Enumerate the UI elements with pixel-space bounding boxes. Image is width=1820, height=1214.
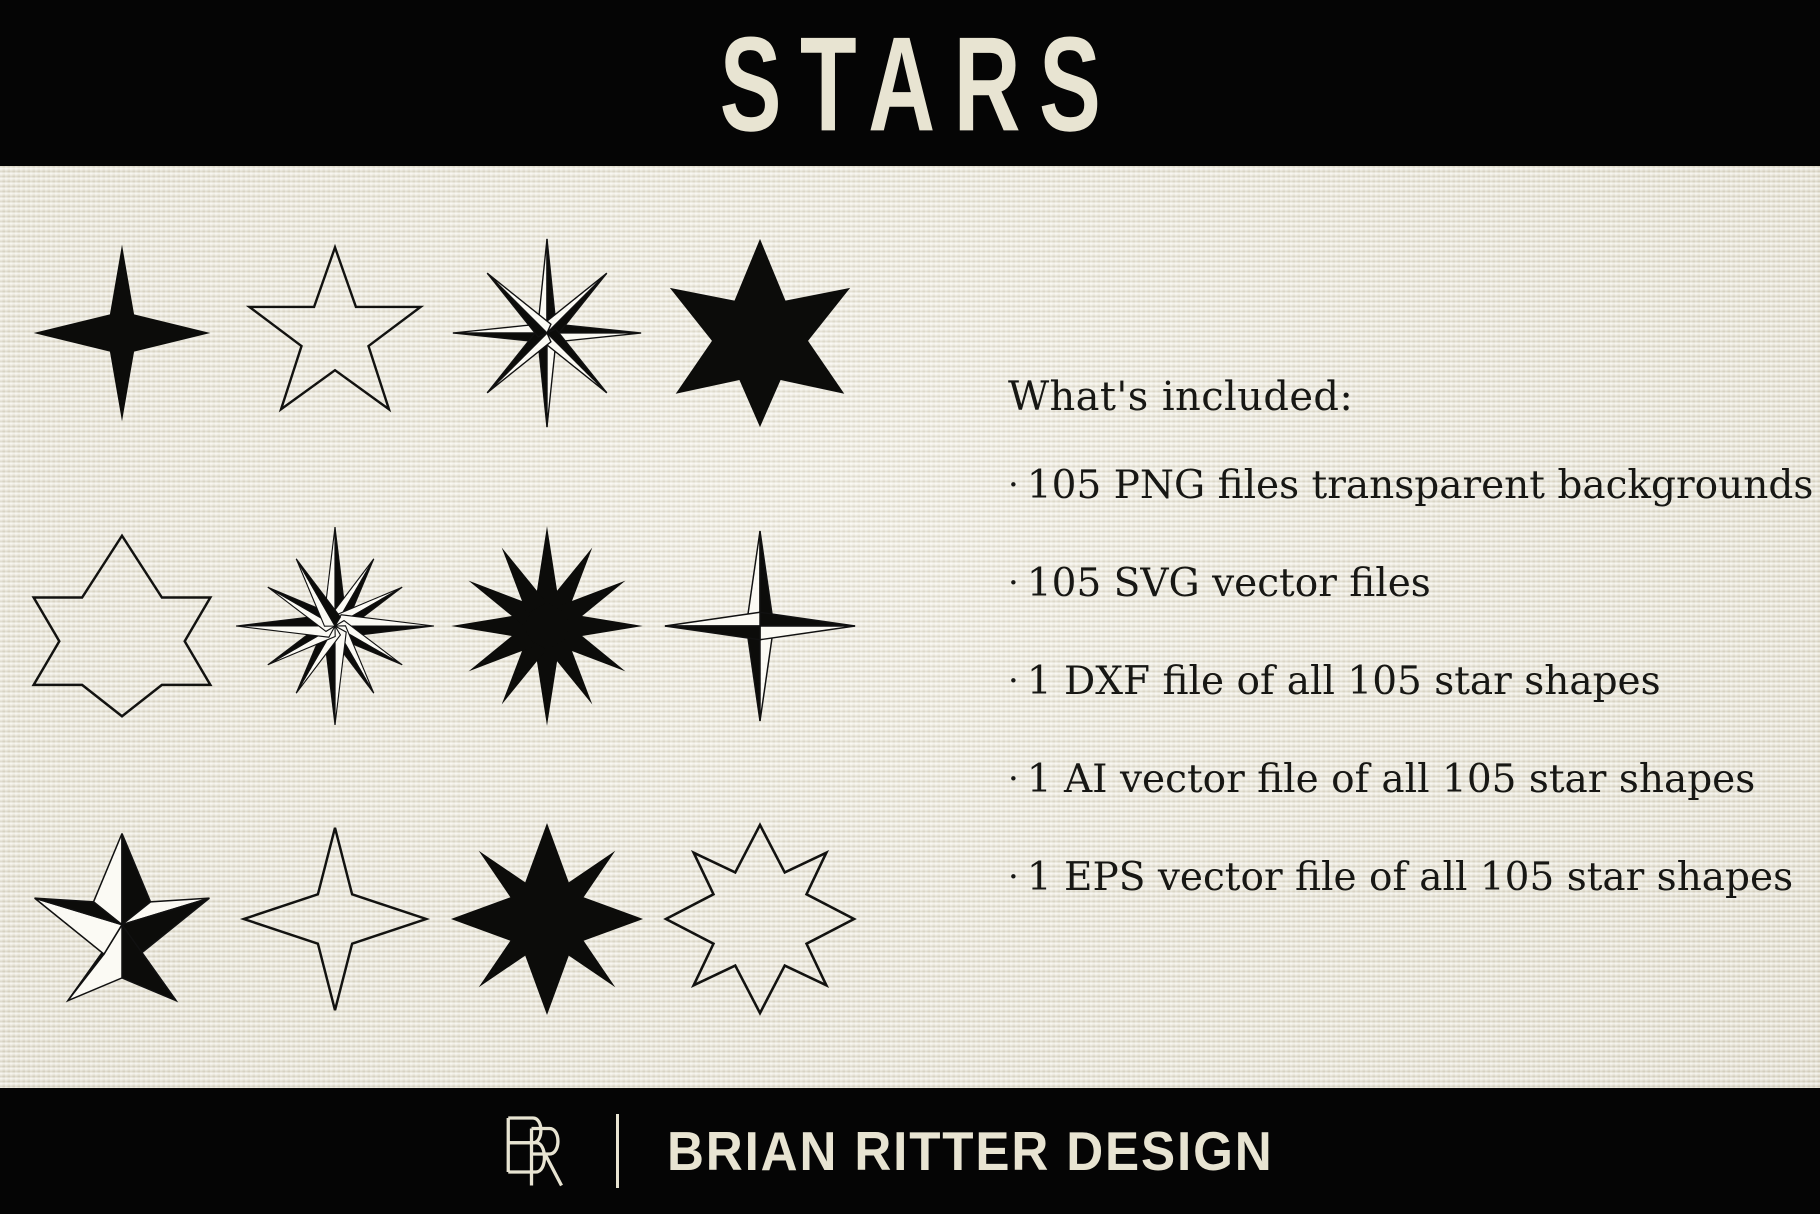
header-band: STARS	[0, 0, 1820, 166]
list-item: · 105 PNG files transparent backgrounds	[1008, 466, 1798, 507]
star-cell-4	[654, 186, 867, 479]
included-heading: What's included:	[1008, 374, 1798, 420]
star-cell-12	[654, 773, 867, 1066]
br-monogram-logo-icon	[498, 1112, 574, 1190]
star-cell-2	[229, 186, 442, 479]
twelve-point-rose-shaded-icon	[233, 524, 437, 728]
eight-point-outline-icon	[661, 820, 859, 1018]
list-item: · 1 EPS vector file of all 105 star shap…	[1008, 858, 1798, 899]
five-point-nautical-shaded-icon	[24, 824, 220, 1014]
list-item: · 1 AI vector file of all 105 star shape…	[1008, 760, 1798, 801]
four-point-sparkle-solid-icon	[29, 240, 215, 426]
bullet-icon: ·	[1008, 566, 1019, 600]
star-cell-3	[441, 186, 654, 479]
star-showcase-grid	[16, 186, 866, 1066]
six-point-solid-icon	[662, 235, 858, 431]
list-item-label: 1 AI vector file of all 105 star shapes	[1027, 760, 1755, 801]
included-list: · 105 PNG files transparent backgrounds …	[1008, 466, 1798, 899]
eight-point-compass-rose-icon	[449, 235, 645, 431]
bullet-icon: ·	[1008, 664, 1019, 698]
included-info-panel: What's included: · 105 PNG files transpa…	[1008, 374, 1798, 899]
star-cell-5	[16, 479, 229, 772]
five-point-outline-icon	[240, 240, 430, 426]
star-cell-11	[441, 773, 654, 1066]
star-cell-7	[441, 479, 654, 772]
list-item-label: 1 DXF file of all 105 star shapes	[1027, 662, 1661, 703]
page-title: STARS	[701, 17, 1119, 152]
bullet-icon: ·	[1008, 762, 1019, 796]
four-point-compass-rose-icon	[662, 528, 858, 724]
poster-canvas: STARS	[0, 0, 1820, 1214]
star-cell-1	[16, 186, 229, 479]
list-item-label: 1 EPS vector file of all 105 star shapes	[1027, 858, 1793, 899]
star-cell-6	[229, 479, 442, 772]
list-item: · 1 DXF file of all 105 star shapes	[1008, 662, 1798, 703]
bullet-icon: ·	[1008, 468, 1019, 502]
footer-band: BRIAN RITTER DESIGN	[0, 1088, 1820, 1214]
twelve-point-burst-solid-icon	[444, 523, 650, 729]
list-item-label: 105 PNG files transparent backgrounds	[1027, 466, 1814, 507]
eight-point-burst-solid-icon	[448, 820, 646, 1018]
star-cell-8	[654, 479, 867, 772]
list-item: · 105 SVG vector files	[1008, 564, 1798, 605]
brand-name: BRIAN RITTER DESIGN	[667, 1124, 1274, 1179]
bullet-icon: ·	[1008, 860, 1019, 894]
footer-content: BRIAN RITTER DESIGN	[498, 1112, 1319, 1190]
star-cell-9	[16, 773, 229, 1066]
six-point-outline-icon	[27, 528, 217, 724]
star-cell-10	[229, 773, 442, 1066]
list-item-label: 105 SVG vector files	[1027, 564, 1431, 605]
footer-divider	[616, 1114, 619, 1188]
four-point-outline-icon	[240, 821, 430, 1017]
